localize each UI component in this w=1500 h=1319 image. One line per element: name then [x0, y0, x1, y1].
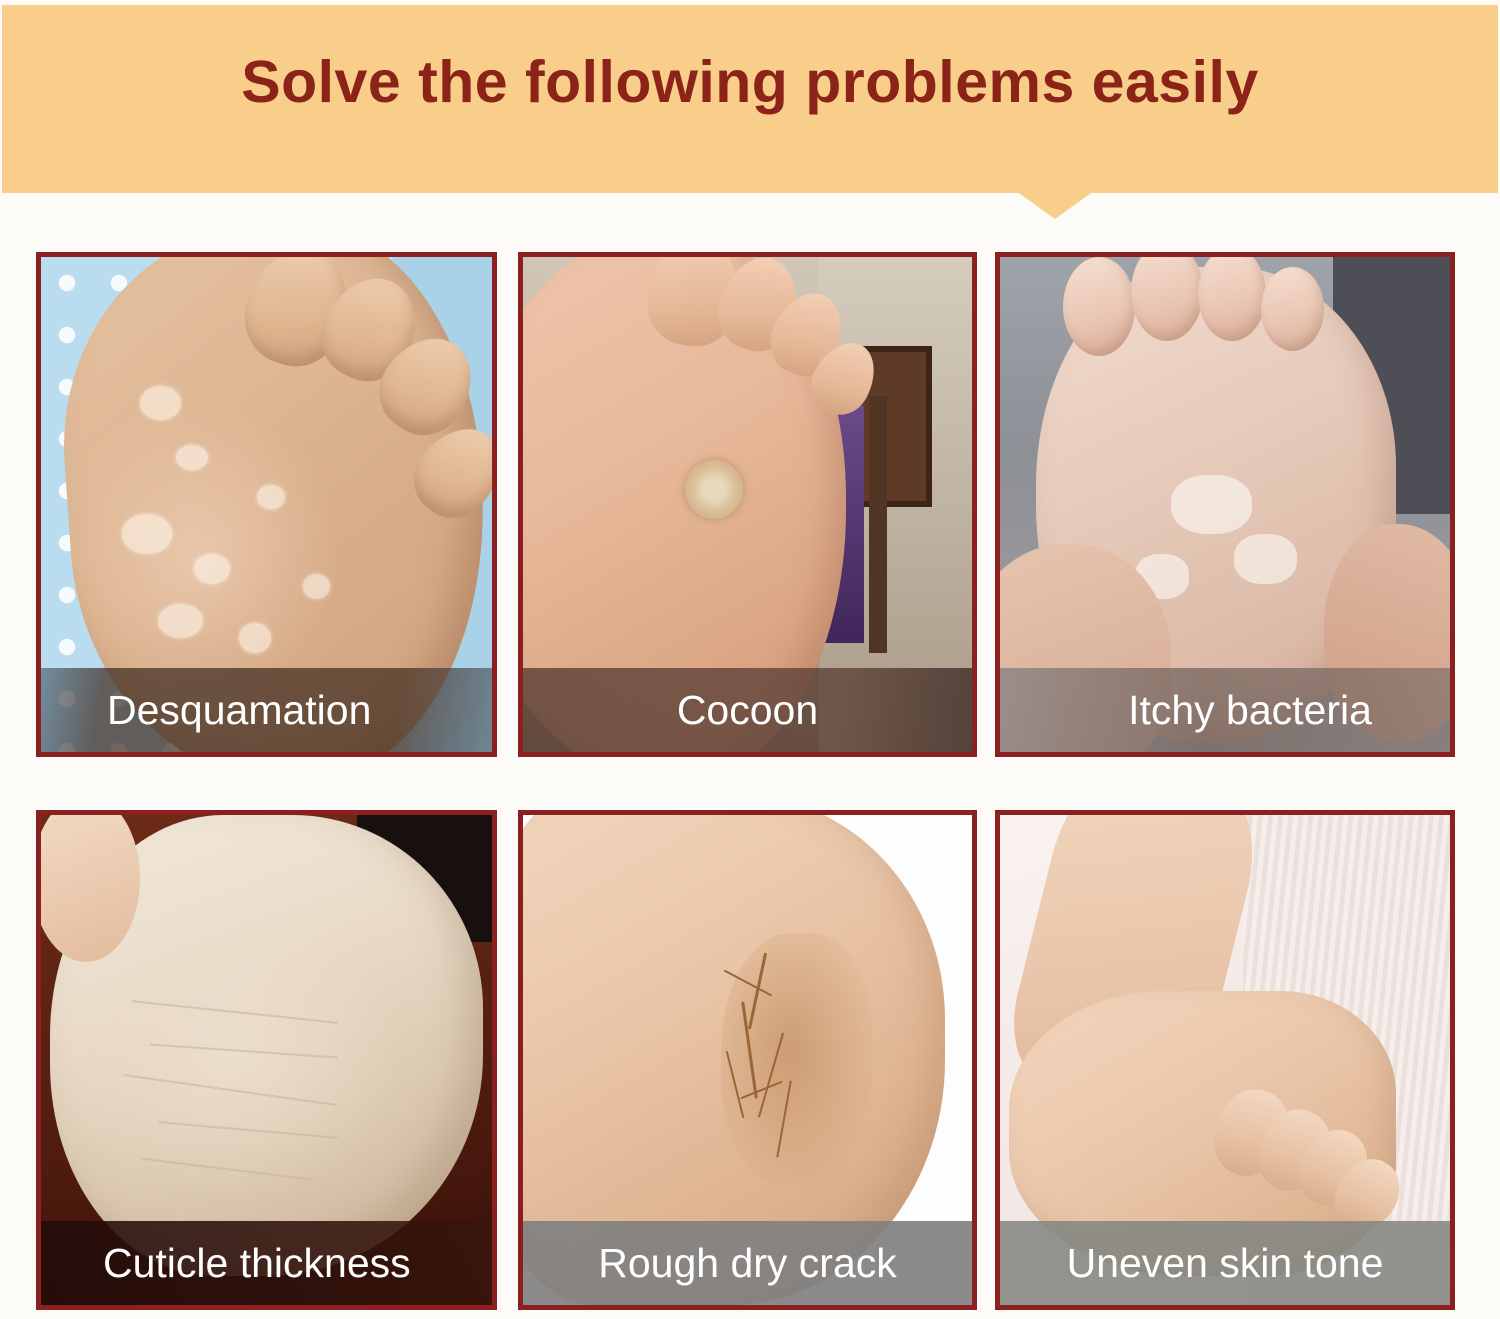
problem-tile-itchy-bacteria[interactable]: Itchy bacteria	[995, 252, 1455, 757]
tile-caption: Cocoon	[677, 690, 818, 731]
tile-caption: Itchy bacteria	[1128, 690, 1372, 731]
tile-caption: Rough dry crack	[598, 1243, 897, 1284]
tile-caption: Uneven skin tone	[1067, 1243, 1384, 1284]
tile-caption-bar: Cocoon	[523, 668, 972, 752]
problem-tile-rough-dry-crack[interactable]: Rough dry crack	[518, 810, 977, 1310]
tile-caption-bar: Uneven skin tone	[1000, 1221, 1450, 1305]
tile-caption: Cuticle thickness	[103, 1243, 411, 1284]
tile-caption-bar: Itchy bacteria	[1000, 668, 1450, 752]
header-banner: Solve the following problems easily	[2, 5, 1498, 193]
tile-caption-bar: Cuticle thickness	[41, 1221, 492, 1305]
problem-tile-desquamation[interactable]: Desquamation	[36, 252, 497, 757]
triangle-down-pointer-icon	[1019, 193, 1091, 219]
problem-tile-cocoon[interactable]: Cocoon	[518, 252, 977, 757]
problem-tile-grid: Desquamation Cocoon	[36, 252, 1455, 1310]
problem-tile-uneven-skin-tone[interactable]: Uneven skin tone	[995, 810, 1455, 1310]
page-title: Solve the following problems easily	[2, 53, 1498, 112]
tile-caption-bar: Desquamation	[41, 668, 492, 752]
tile-caption-bar: Rough dry crack	[523, 1221, 972, 1305]
problem-tile-cuticle-thickness[interactable]: Cuticle thickness	[36, 810, 497, 1310]
tile-caption: Desquamation	[107, 690, 371, 731]
